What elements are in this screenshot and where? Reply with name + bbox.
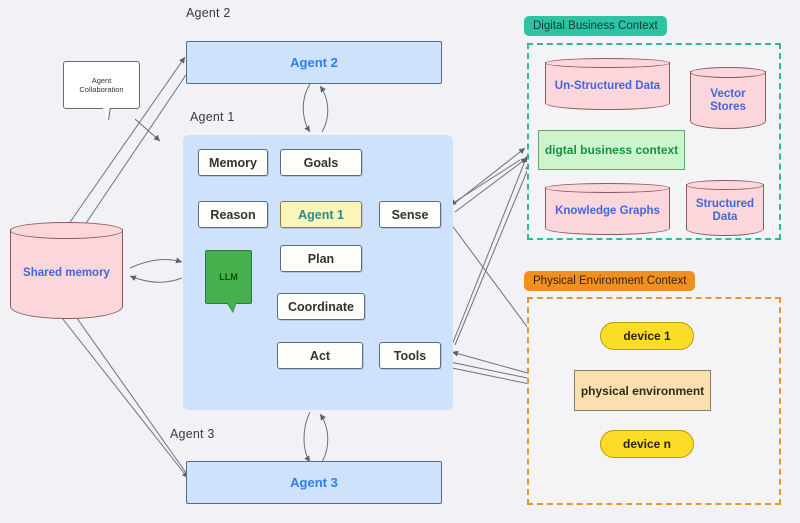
- sense-box[interactable]: Sense: [379, 201, 441, 228]
- physical-environment-label: physical environment: [581, 384, 704, 398]
- structured-data-label: Structured Data: [686, 180, 764, 236]
- callout-line-2: Collaboration: [79, 85, 123, 94]
- llm-body: LLM: [205, 250, 252, 304]
- knowledge-graphs-label: Knowledge Graphs: [545, 183, 670, 235]
- memory-box[interactable]: Memory: [198, 149, 268, 176]
- structured-data-cylinder[interactable]: Structured Data: [686, 180, 764, 236]
- agent3-title-label: Agent 3: [170, 427, 215, 441]
- agent-3-bar-label: Agent 3: [290, 475, 338, 490]
- un-structured-data-label: Un-Structured Data: [545, 58, 670, 110]
- shared-memory-cylinder[interactable]: Shared memory: [10, 222, 123, 319]
- llm-label: LLM: [219, 272, 238, 282]
- digital-business-context-tag: Digital Business Context: [524, 16, 667, 36]
- vector-stores-cylinder[interactable]: Vector Stores: [690, 67, 766, 129]
- coordinate-box[interactable]: Coordinate: [277, 293, 365, 320]
- agent-collaboration-callout: Agent Collaboration: [63, 61, 138, 123]
- agent-1-core-box[interactable]: Agent 1: [280, 201, 362, 228]
- device-n-pill[interactable]: device n: [600, 430, 694, 458]
- agent2-title-label: Agent 2: [186, 6, 231, 20]
- act-box[interactable]: Act: [277, 342, 363, 369]
- agent1-title-label: Agent 1: [190, 110, 235, 124]
- diagram-canvas: Agent 2 Agent 1 Agent 3 Agent Collaborat…: [0, 0, 800, 523]
- reason-box[interactable]: Reason: [198, 201, 268, 228]
- goals-box[interactable]: Goals: [280, 149, 362, 176]
- goals-label: Goals: [304, 156, 339, 170]
- agent-1-core-label: Agent 1: [298, 208, 344, 222]
- reason-label: Reason: [210, 208, 255, 222]
- device-n-label: device n: [623, 437, 671, 451]
- physical-environment-context-tag: Physical Environment Context: [524, 271, 695, 291]
- tools-box[interactable]: Tools: [379, 342, 441, 369]
- agent-2-bar-label: Agent 2: [290, 55, 338, 70]
- digital-business-context-box[interactable]: digtal business context: [538, 130, 685, 170]
- plan-label: Plan: [308, 252, 334, 266]
- callout-line-1: Agent: [92, 76, 112, 85]
- plan-box[interactable]: Plan: [280, 245, 362, 272]
- un-structured-data-cylinder[interactable]: Un-Structured Data: [545, 58, 670, 110]
- device-1-pill[interactable]: device 1: [600, 322, 694, 350]
- digital-business-context-box-label: digtal business context: [545, 143, 678, 157]
- coordinate-label: Coordinate: [288, 300, 354, 314]
- sense-label: Sense: [392, 208, 429, 222]
- tools-label: Tools: [394, 349, 426, 363]
- device-1-label: device 1: [623, 329, 670, 343]
- agent-3-bar[interactable]: Agent 3: [186, 461, 442, 504]
- agent-2-bar[interactable]: Agent 2: [186, 41, 442, 84]
- knowledge-graphs-cylinder[interactable]: Knowledge Graphs: [545, 183, 670, 235]
- act-label: Act: [310, 349, 330, 363]
- vector-stores-label: Vector Stores: [690, 67, 766, 129]
- physical-environment-box[interactable]: physical environment: [574, 370, 711, 411]
- shared-memory-label: Shared memory: [10, 222, 123, 319]
- memory-label: Memory: [209, 156, 257, 170]
- llm-callout[interactable]: LLM: [205, 250, 250, 312]
- llm-tail: [226, 301, 237, 312]
